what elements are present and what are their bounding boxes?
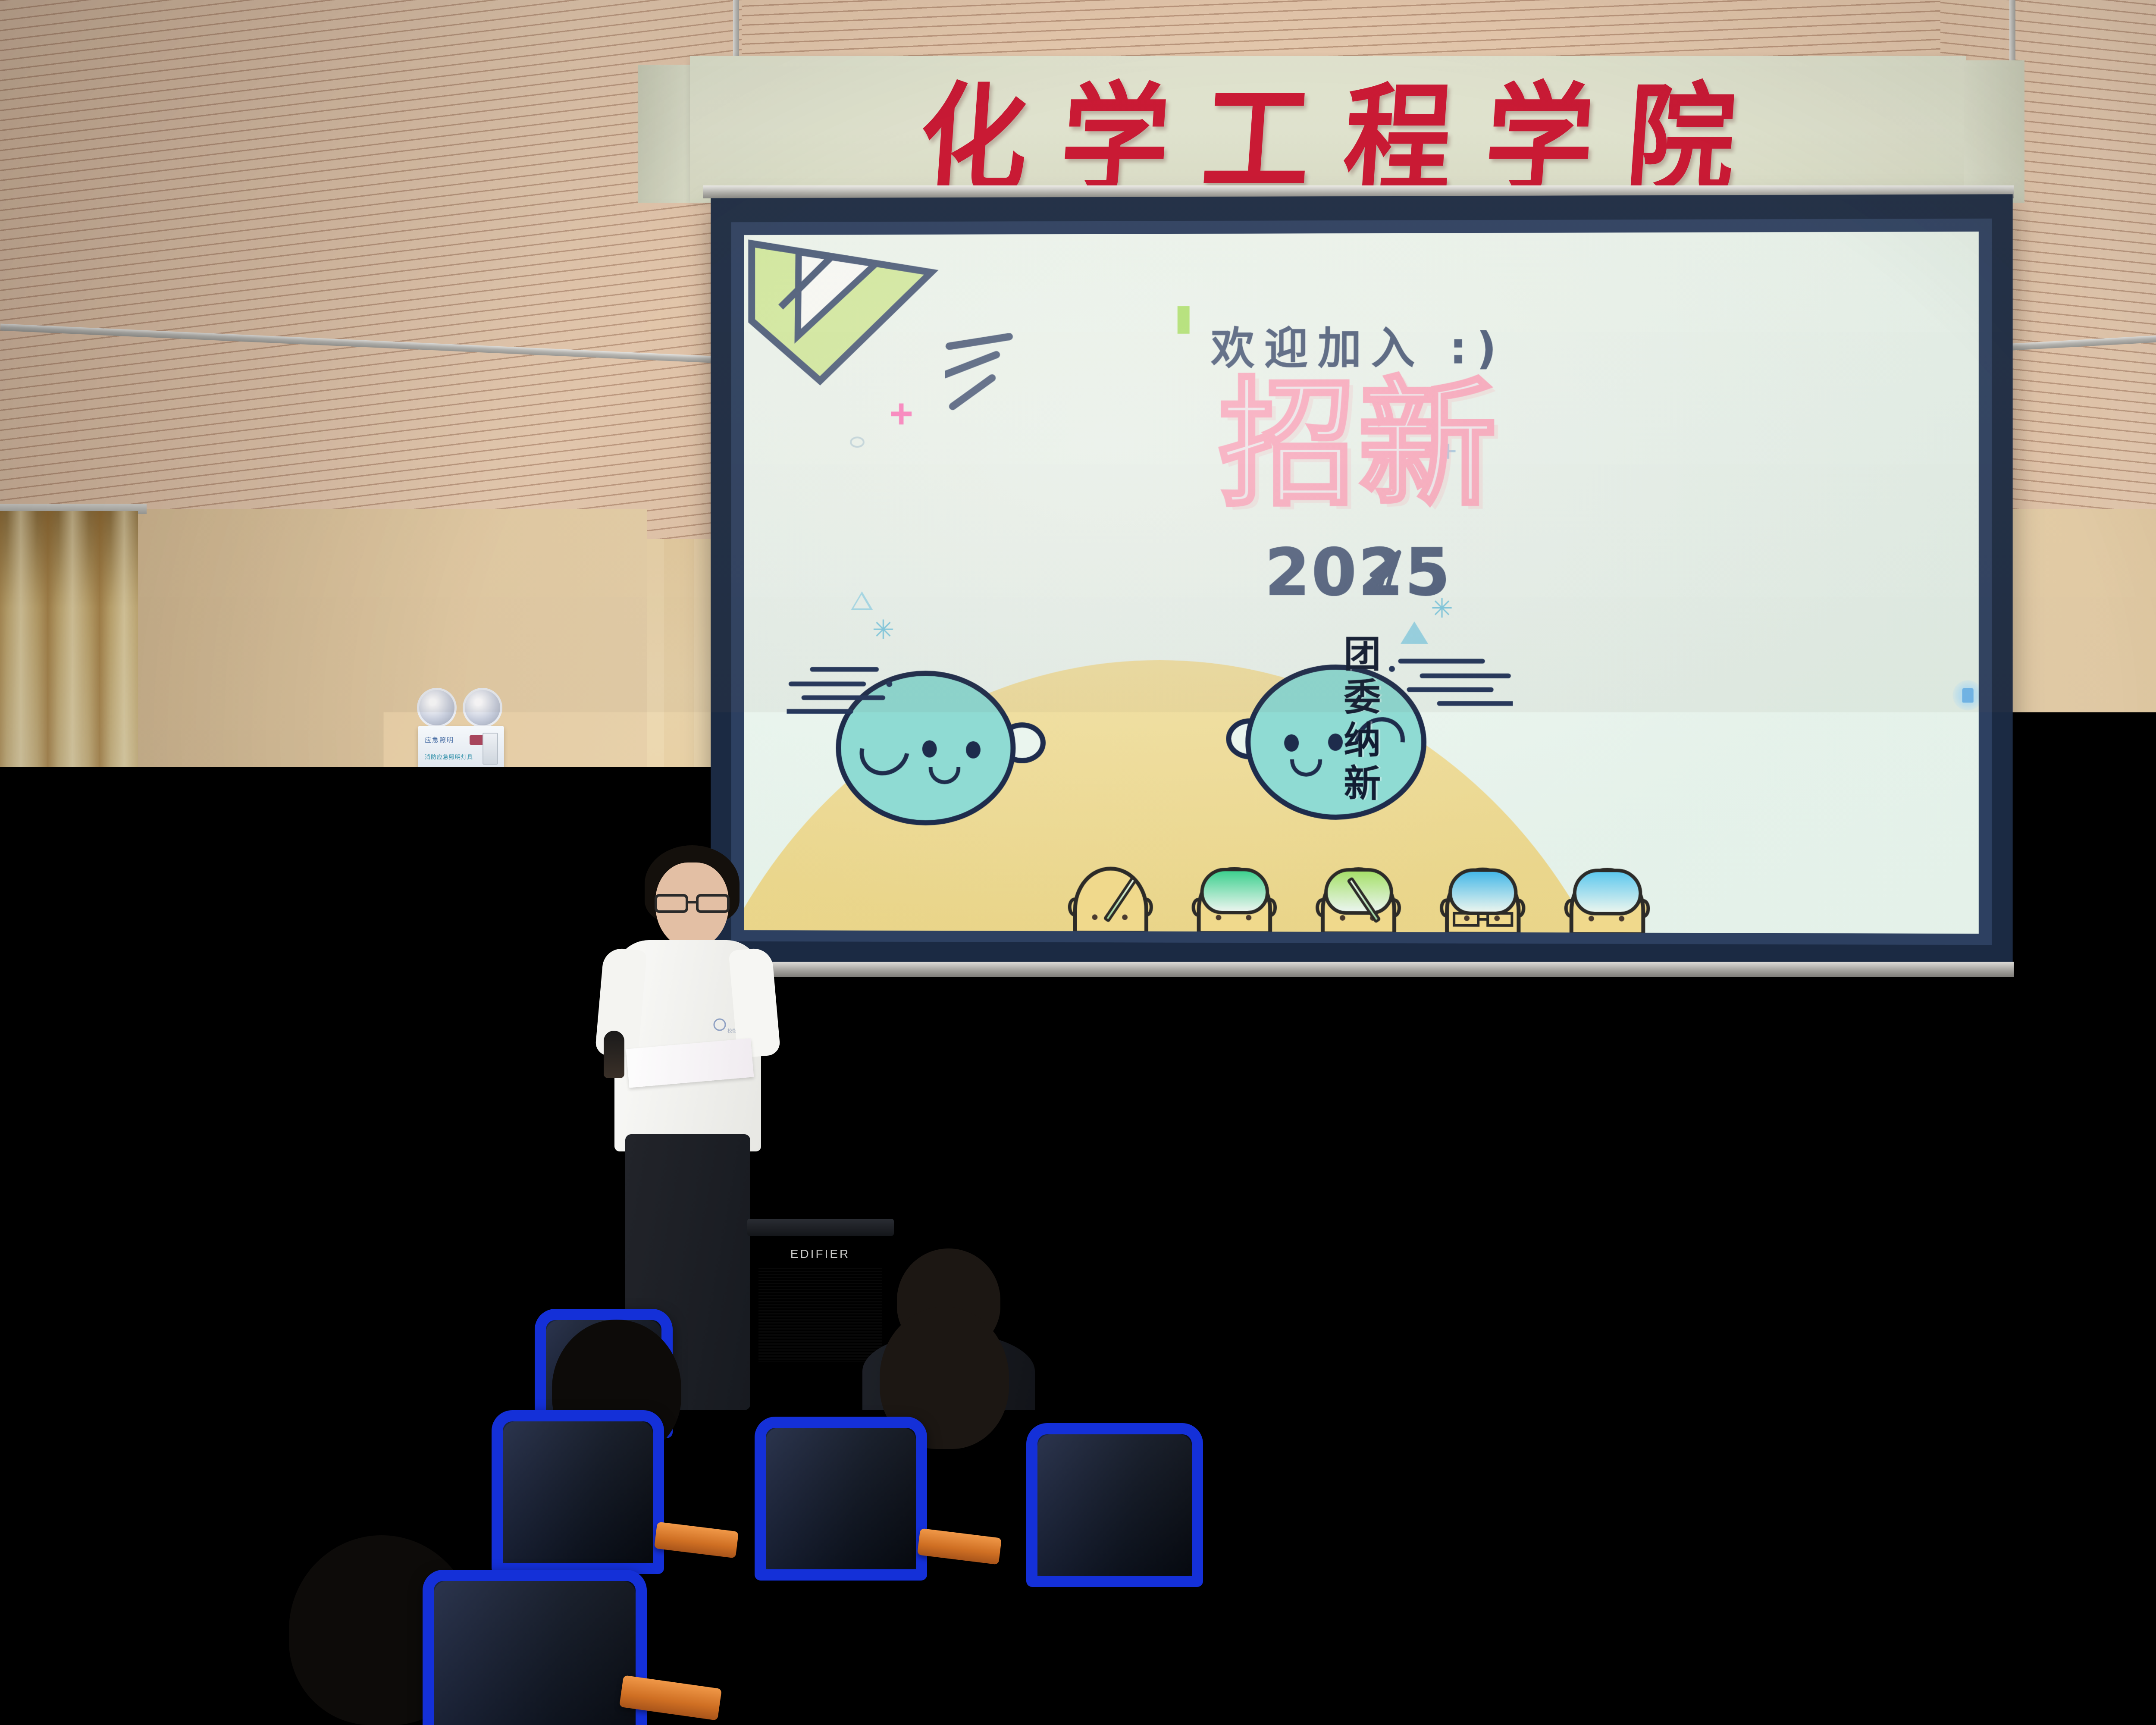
coiled-cable xyxy=(1462,1164,1496,1220)
emergency-light-sublabel: 消防应急照明灯具 xyxy=(425,753,473,761)
sparkle-decoration-icon: ✳ xyxy=(872,617,895,644)
kid-illustration xyxy=(1562,867,1653,934)
emergency-light-label: 应急照明 xyxy=(425,735,454,744)
welcome-highlight-marker xyxy=(1178,306,1190,334)
kid-illustration xyxy=(1189,866,1280,934)
speaker-brand-label: EDIFIER xyxy=(752,1247,888,1261)
speed-lines-decoration-icon xyxy=(1383,656,1513,712)
kid-hair xyxy=(1200,868,1269,914)
speaker-grille xyxy=(758,1268,882,1362)
mascot-eye xyxy=(922,740,937,758)
emergency-lamp-icon xyxy=(417,688,457,728)
kid-eye xyxy=(1340,915,1345,921)
kid-hair xyxy=(1573,869,1642,916)
speed-lines-decoration-icon xyxy=(787,664,906,720)
college-title: 化学工程学院 xyxy=(690,67,1966,192)
podium-neck xyxy=(229,1059,448,1115)
mascot-eye xyxy=(1284,734,1299,752)
audience-head-foreground xyxy=(733,1552,910,1725)
slide-headline: 招新 xyxy=(744,375,1978,514)
header-panel-right-return xyxy=(1964,60,2024,203)
speaker-top-panel xyxy=(747,1219,894,1236)
kid-eye xyxy=(1246,915,1251,920)
audience-head xyxy=(1759,1212,1867,1320)
audience-seat-foreground[interactable] xyxy=(0,1587,164,1725)
emergency-light-body: 应急照明 消防应急照明灯具 xyxy=(418,726,504,769)
kid-head xyxy=(1073,866,1148,934)
kid-eye xyxy=(1619,916,1624,922)
presentation-slide: + + ✳ ✳ 欢迎加入 :) 招新 2025 xyxy=(744,232,1978,934)
emergency-lamp-icon xyxy=(463,688,502,728)
header-panel-left-return xyxy=(638,65,694,203)
seat-armrest xyxy=(654,1522,739,1559)
audience-seat[interactable] xyxy=(1630,1419,1811,1587)
mascot-eye xyxy=(966,741,981,759)
lower-wall-right xyxy=(2005,509,2156,1264)
usb-device-icon xyxy=(1952,680,1979,710)
floor-speaker: EDIFIER xyxy=(751,1227,889,1369)
mascot-mouth xyxy=(1290,759,1322,777)
kid-glasses-icon xyxy=(1453,911,1513,928)
audience-seat-foreground[interactable] xyxy=(1621,1578,1854,1725)
triangle-filled-icon xyxy=(1401,621,1428,644)
status-led xyxy=(470,735,484,745)
audience-seat[interactable] xyxy=(492,1410,664,1574)
curtain-left xyxy=(0,511,138,1201)
microphone-icon xyxy=(604,1031,624,1078)
coiled-cable xyxy=(470,1253,500,1300)
slide-year: 2025 xyxy=(744,535,1978,610)
glasses-icon xyxy=(653,893,731,913)
podium-top-surface xyxy=(181,1011,509,1063)
kid-illustration xyxy=(1437,866,1528,934)
blush-swirl-icon xyxy=(850,717,919,785)
screen-bottom-trim xyxy=(703,962,2014,977)
kid-eye xyxy=(1122,915,1128,920)
kid-hair xyxy=(1448,868,1517,915)
kid-illustration xyxy=(1313,866,1404,934)
kid-eye xyxy=(1589,916,1594,921)
test-switch[interactable] xyxy=(483,733,498,765)
kid-eye xyxy=(1092,914,1097,920)
audience-seat[interactable] xyxy=(1475,1298,1617,1432)
emergency-light-left: 应急照明 消防应急照明灯具 xyxy=(407,688,515,774)
mascot-mouth xyxy=(929,767,960,784)
projection-screen: + + ✳ ✳ 欢迎加入 :) 招新 2025 xyxy=(711,194,2012,966)
kid-illustration xyxy=(1065,866,1156,934)
kid-eye xyxy=(1216,915,1221,920)
auditorium-scene: 化学工程学院 应急照明 消防应急照明灯具 应急照明 消防应急照明灯具 xyxy=(0,0,2156,1725)
slide-vertical-text: 团委纳新 xyxy=(1339,634,1377,807)
kids-illustration-row xyxy=(744,861,1978,934)
audience-shoulders xyxy=(1725,1311,1906,1397)
audience-seat-foreground[interactable] xyxy=(423,1570,647,1725)
upper-wall-left xyxy=(0,0,742,561)
